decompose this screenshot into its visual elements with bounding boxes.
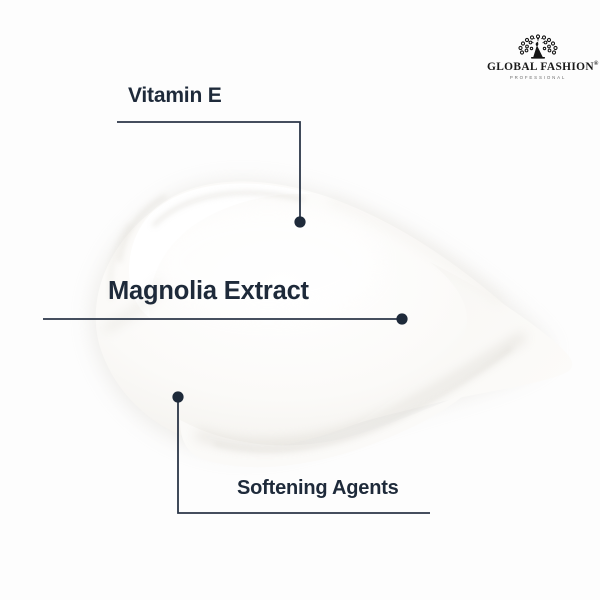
- callout-label-magnolia-extract: Magnolia Extract: [108, 277, 309, 306]
- peacock-icon: [510, 34, 566, 60]
- anchor-dot-magnolia-extract: [396, 313, 407, 324]
- infographic-canvas: Vitamin E Magnolia Extract Softening Age…: [0, 0, 600, 600]
- brand-name: GLOBAL FASHION®: [487, 61, 589, 73]
- brand-tagline: PROFESSIONAL: [487, 76, 589, 80]
- brand-logo: GLOBAL FASHION® PROFESSIONAL: [487, 34, 589, 84]
- anchor-dot-softening-agents: [172, 391, 183, 402]
- registered-mark-icon: ®: [594, 61, 598, 67]
- anchor-dot-vitamin-e: [294, 216, 305, 227]
- callout-label-vitamin-e: Vitamin E: [128, 84, 222, 108]
- leader-line-vitamin-e: [117, 122, 300, 222]
- callout-label-softening-agents: Softening Agents: [237, 477, 399, 500]
- brand-name-text: GLOBAL FASHION: [487, 61, 594, 73]
